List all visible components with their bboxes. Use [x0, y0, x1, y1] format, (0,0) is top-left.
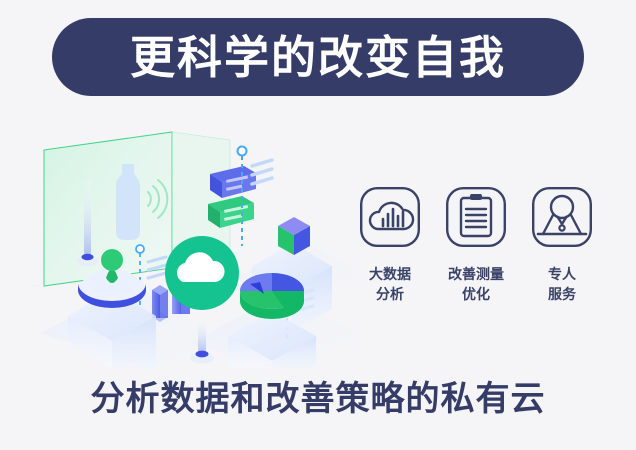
cloud-badge — [165, 236, 239, 310]
clipboard-icon — [445, 186, 507, 248]
header-banner: 更科学的改变自我 — [52, 18, 584, 96]
feature-label-line2: 优化 — [448, 284, 504, 304]
feature-item-big-data[interactable]: 大数据 分析 — [352, 186, 428, 305]
dashed-pole — [238, 147, 273, 247]
pie-chart — [240, 273, 304, 319]
feature-label-big-data: 大数据 分析 — [369, 264, 411, 305]
feature-item-service[interactable]: 专人 服务 — [524, 186, 600, 305]
feature-item-measurement[interactable]: 改善测量 优化 — [438, 186, 514, 305]
page-title: 更科学的改变自我 — [130, 35, 506, 80]
feature-label-service: 专人 服务 — [548, 264, 576, 305]
feature-label-line1: 专人 — [548, 264, 576, 284]
feature-label-line2: 分析 — [369, 284, 411, 304]
service-person-icon — [531, 186, 593, 248]
feature-list: 大数据 分析 改善测量 优化 — [352, 186, 600, 331]
tagline: 分析数据和改善策略的私有云 — [0, 382, 636, 416]
hero-illustration — [40, 118, 360, 368]
feature-label-line1: 改善测量 — [448, 264, 504, 284]
feature-label-line2: 服务 — [548, 284, 576, 304]
feature-label-measurement: 改善测量 优化 — [448, 264, 504, 305]
poster-root: 更科学的改变自我 — [0, 0, 636, 450]
cloud-bar-chart-icon — [359, 186, 421, 248]
feature-label-line1: 大数据 — [369, 264, 411, 284]
